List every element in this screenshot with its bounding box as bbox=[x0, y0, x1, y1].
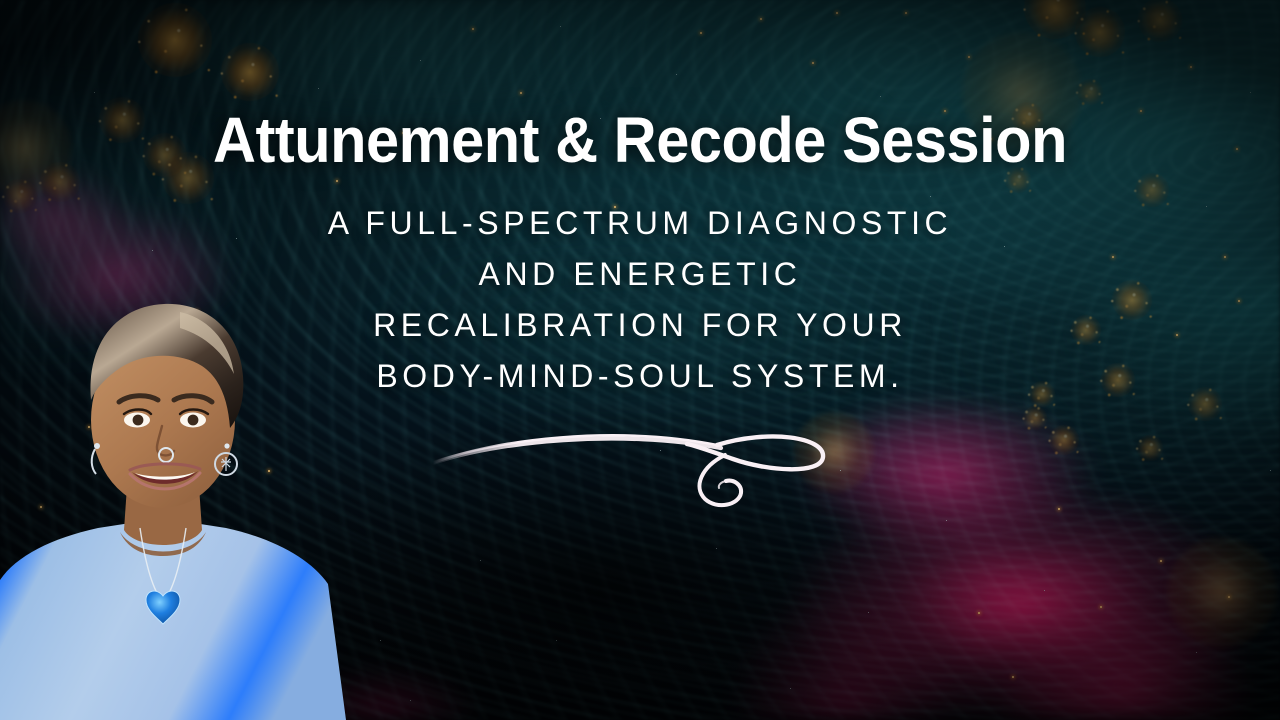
sparkle-point bbox=[1236, 148, 1238, 150]
sparkle-cluster bbox=[1135, 173, 1169, 207]
star-point bbox=[1196, 652, 1197, 653]
star-point bbox=[1044, 590, 1045, 591]
sparkle-cluster bbox=[1075, 7, 1125, 57]
sparkle-point bbox=[1190, 66, 1192, 68]
sparkle-point bbox=[1224, 256, 1226, 258]
star-point bbox=[480, 560, 481, 561]
page-title: Attunement & Recode Session bbox=[45, 107, 1235, 174]
sparkle-cluster bbox=[1137, 435, 1163, 461]
sparkle-point bbox=[812, 62, 814, 64]
sparkle-point bbox=[336, 180, 338, 182]
sparkle-point bbox=[1160, 560, 1162, 562]
sparkle-point bbox=[520, 92, 522, 94]
sparkle-point bbox=[1238, 300, 1240, 302]
sparkle-point bbox=[760, 18, 762, 20]
sparkle-point bbox=[1176, 334, 1178, 336]
sparkle-cluster bbox=[1101, 363, 1135, 397]
sparkle-cluster bbox=[1188, 387, 1222, 421]
star-point bbox=[560, 26, 561, 27]
star-point bbox=[318, 88, 319, 89]
star-point bbox=[410, 700, 411, 701]
subtitle-line-1: A FULL-SPECTRUM DIAGNOSTIC bbox=[210, 198, 1070, 249]
star-point bbox=[94, 92, 95, 93]
star-point bbox=[790, 688, 791, 689]
star-point bbox=[1270, 470, 1271, 471]
star-point bbox=[880, 96, 881, 97]
star-point bbox=[1206, 206, 1207, 207]
star-point bbox=[716, 548, 717, 549]
star-point bbox=[946, 520, 947, 521]
glow-orb bbox=[1167, 537, 1277, 647]
sparkle-cluster bbox=[221, 43, 279, 101]
sparkle-point bbox=[1112, 256, 1114, 258]
presenter-portrait bbox=[0, 250, 366, 720]
sparkle-cluster bbox=[1071, 315, 1101, 345]
sparkle-cluster bbox=[3, 179, 37, 213]
sparkle-point bbox=[700, 32, 702, 34]
star-point bbox=[868, 612, 869, 613]
sparkle-point bbox=[968, 56, 970, 58]
sparkle-cluster bbox=[138, 3, 212, 77]
sparkle-point bbox=[1012, 676, 1014, 678]
star-point bbox=[676, 74, 677, 75]
sparkle-cluster bbox=[1077, 79, 1103, 105]
star-point bbox=[556, 640, 557, 641]
sparkle-cluster bbox=[1049, 425, 1079, 455]
sparkle-point bbox=[905, 12, 907, 14]
star-point bbox=[1250, 92, 1251, 93]
sparkle-point bbox=[1058, 508, 1060, 510]
sparkle-point bbox=[978, 612, 980, 614]
star-point bbox=[420, 60, 421, 61]
sparkle-cluster bbox=[1138, 0, 1182, 42]
sparkle-cluster bbox=[1112, 280, 1152, 320]
sparkle-cluster bbox=[1023, 406, 1047, 430]
sparkle-point bbox=[472, 28, 474, 30]
sparkle-cluster bbox=[1024, 0, 1086, 39]
sparkle-point bbox=[836, 12, 838, 14]
sparkle-point bbox=[1100, 606, 1102, 608]
flourish-divider bbox=[425, 415, 845, 510]
star-point bbox=[380, 640, 381, 641]
sparkle-point bbox=[1228, 596, 1230, 598]
presentation-slide: Attunement & Recode Session A FULL-SPECT… bbox=[0, 0, 1280, 720]
